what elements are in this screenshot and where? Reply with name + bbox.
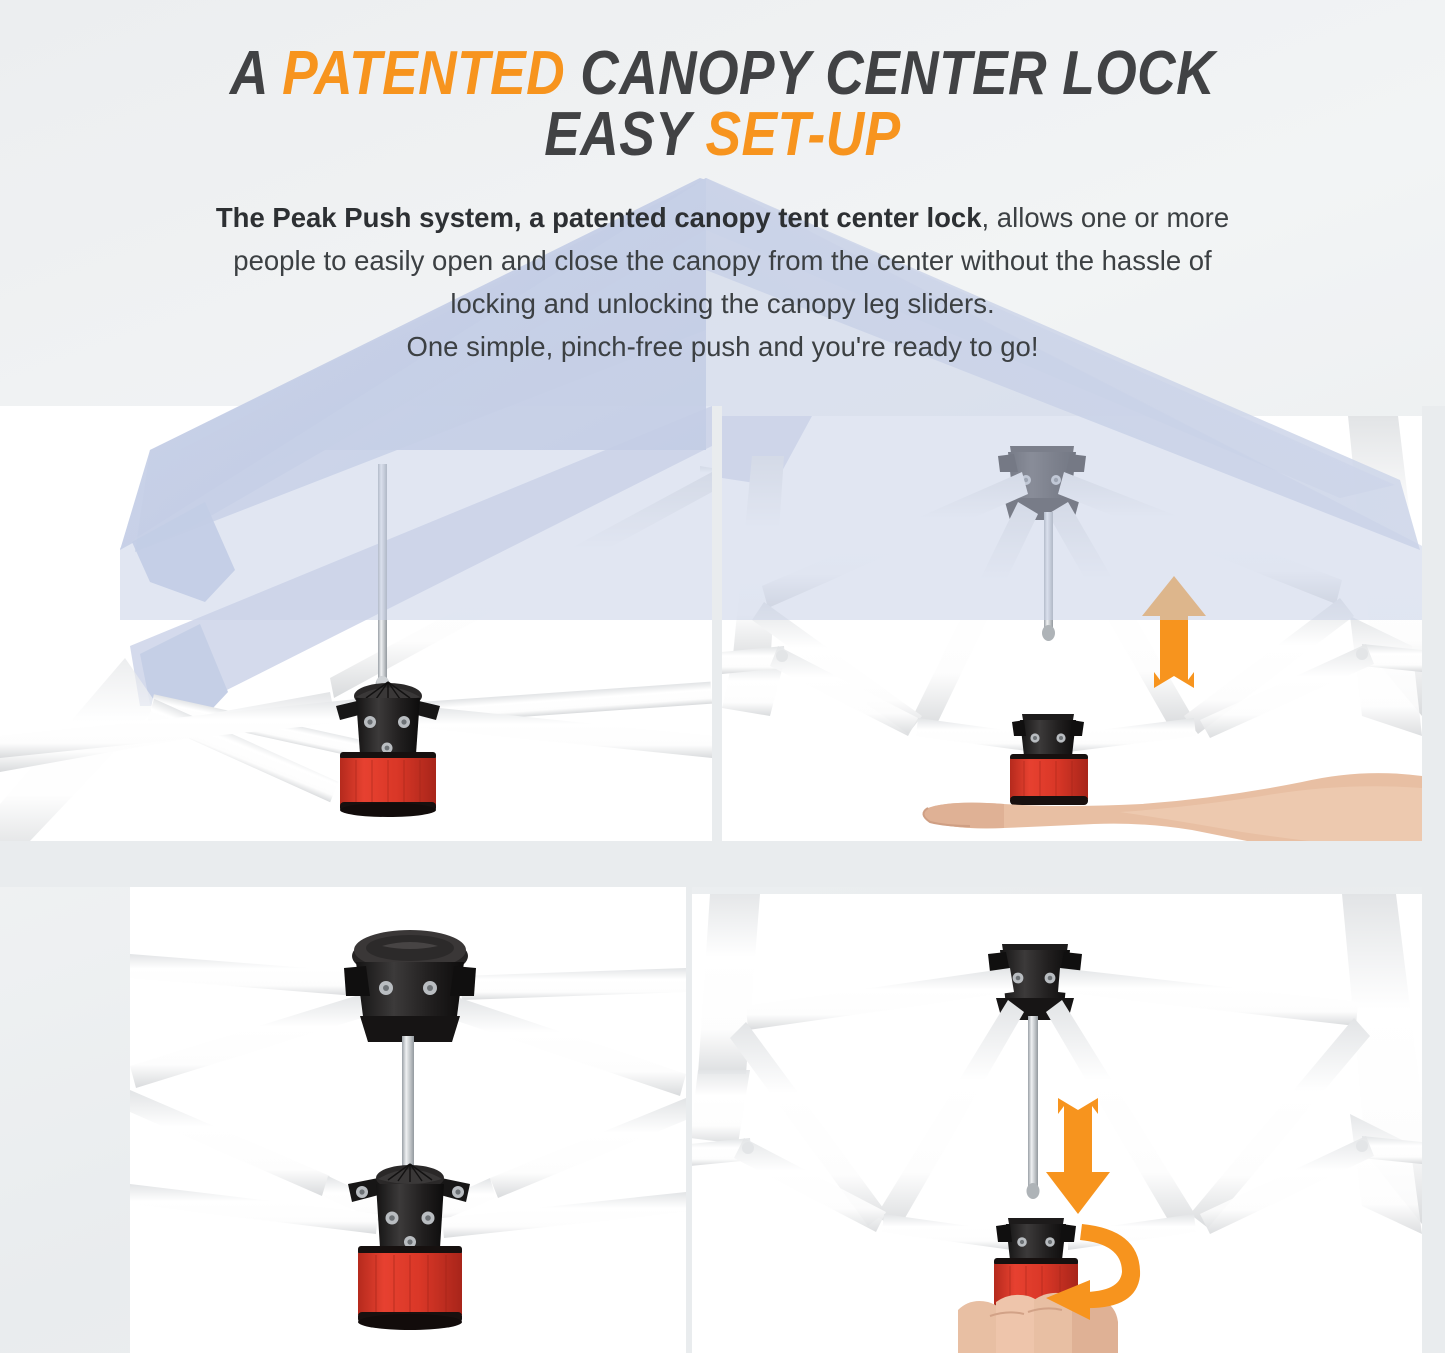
paragraph-line-3: locking and unlocking the canopy leg sli… <box>450 288 994 319</box>
panel-edge-right <box>1422 406 1445 1353</box>
headline-token: A <box>230 39 282 108</box>
headline-token-accent: PATENTED <box>282 39 565 108</box>
headline-token-accent: SET-UP <box>706 100 901 169</box>
paragraph-line-4: One simple, pinch-free push and you're r… <box>406 331 1038 362</box>
headline-token: EASY <box>544 100 705 169</box>
paragraph-line-2: people to easily open and close the cano… <box>233 245 1211 276</box>
panel-gutter-vertical-bottom <box>686 884 692 1353</box>
center-lock-bottom <box>348 1164 470 1330</box>
description-paragraph: The Peak Push system, a patented canopy … <box>78 196 1368 368</box>
center-lock-bottom <box>1010 714 1088 805</box>
headline-token: CANOPY CENTER LOCK <box>565 39 1215 108</box>
panel-gutter-vertical-top <box>712 406 722 848</box>
panel-gutter-horizontal <box>0 841 1445 887</box>
top-cap-plate <box>344 930 476 1042</box>
paragraph-line-1-rest: , allows one or more <box>982 202 1230 233</box>
paragraph-bold-lead: The Peak Push system, a patented canopy … <box>216 202 982 233</box>
page-title: A PATENTED CANOPY CENTER LOCK EASY SET-U… <box>101 44 1344 166</box>
photo-panel-bottom-right <box>690 894 1422 1353</box>
photo-panel-bottom-left <box>130 884 686 1353</box>
headline-line-1: A PATENTED CANOPY CENTER LOCK <box>101 44 1344 105</box>
infographic-stage: A PATENTED CANOPY CENTER LOCK EASY SET-U… <box>0 0 1445 1353</box>
headline-line-2: EASY SET-UP <box>101 105 1344 166</box>
